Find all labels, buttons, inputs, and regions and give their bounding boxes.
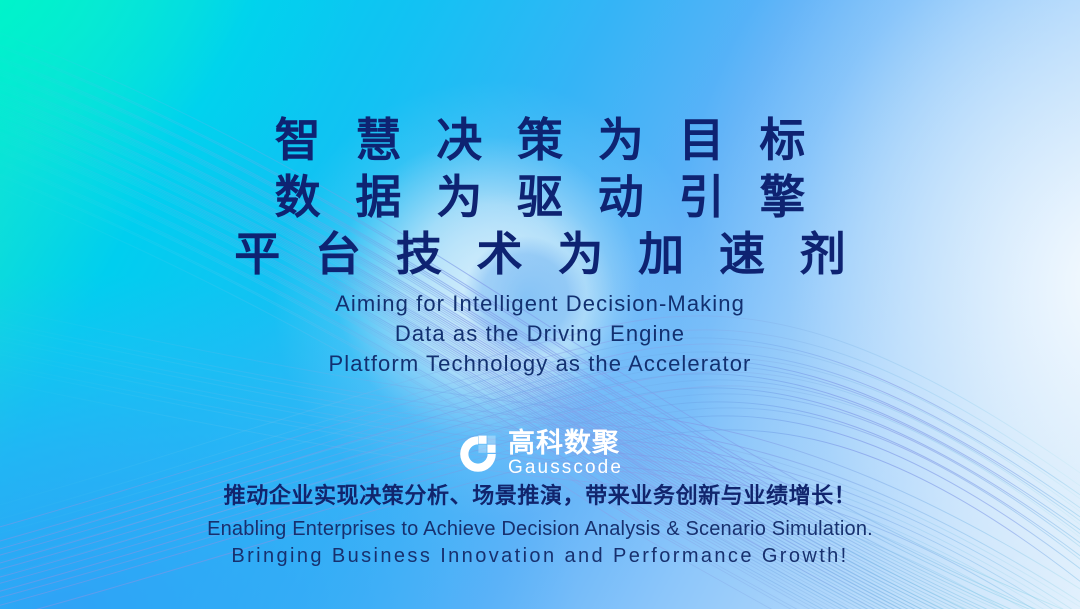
promotional-poster: 智 慧 决 策 为 目 标 数 据 为 驱 动 引 擎 平 台 技 术 为 加 … (0, 0, 1080, 609)
footer-tagline-cn: 推动企业实现决策分析、场景推演，带来业务创新与业绩增长！ (0, 481, 1080, 511)
subheadline-line-3: Platform Technology as the Accelerator (329, 349, 752, 379)
subheadline-line-1: Aiming for Intelligent Decision-Making (329, 289, 752, 319)
footer-tagline: 推动企业实现决策分析、场景推演，带来业务创新与业绩增长！ Enabling En… (0, 481, 1080, 570)
footer-tagline-en-line-2: Bringing Business Innovation and Perform… (0, 543, 1080, 570)
headline-line-3: 平 台 技 术 为 加 速 剂 (223, 226, 856, 283)
headline-line-2: 数 据 为 驱 动 引 擎 (223, 169, 856, 226)
headline: 智 慧 决 策 为 目 标 数 据 为 驱 动 引 擎 平 台 技 术 为 加 … (223, 112, 856, 283)
gausscode-logo-mark-icon (457, 433, 499, 475)
subheadline-line-2: Data as the Driving Engine (329, 319, 752, 349)
logo-name-cn: 高科数聚 (508, 429, 623, 457)
footer-tagline-en-line-1: Enabling Enterprises to Achieve Decision… (0, 516, 1080, 543)
logo-name-en: Gausscode (508, 457, 623, 478)
headline-line-1: 智 慧 决 策 为 目 标 (223, 112, 856, 169)
brand-logo: 高科数聚 Gausscode (0, 429, 1080, 478)
subheadline: Aiming for Intelligent Decision-Making D… (329, 289, 752, 379)
